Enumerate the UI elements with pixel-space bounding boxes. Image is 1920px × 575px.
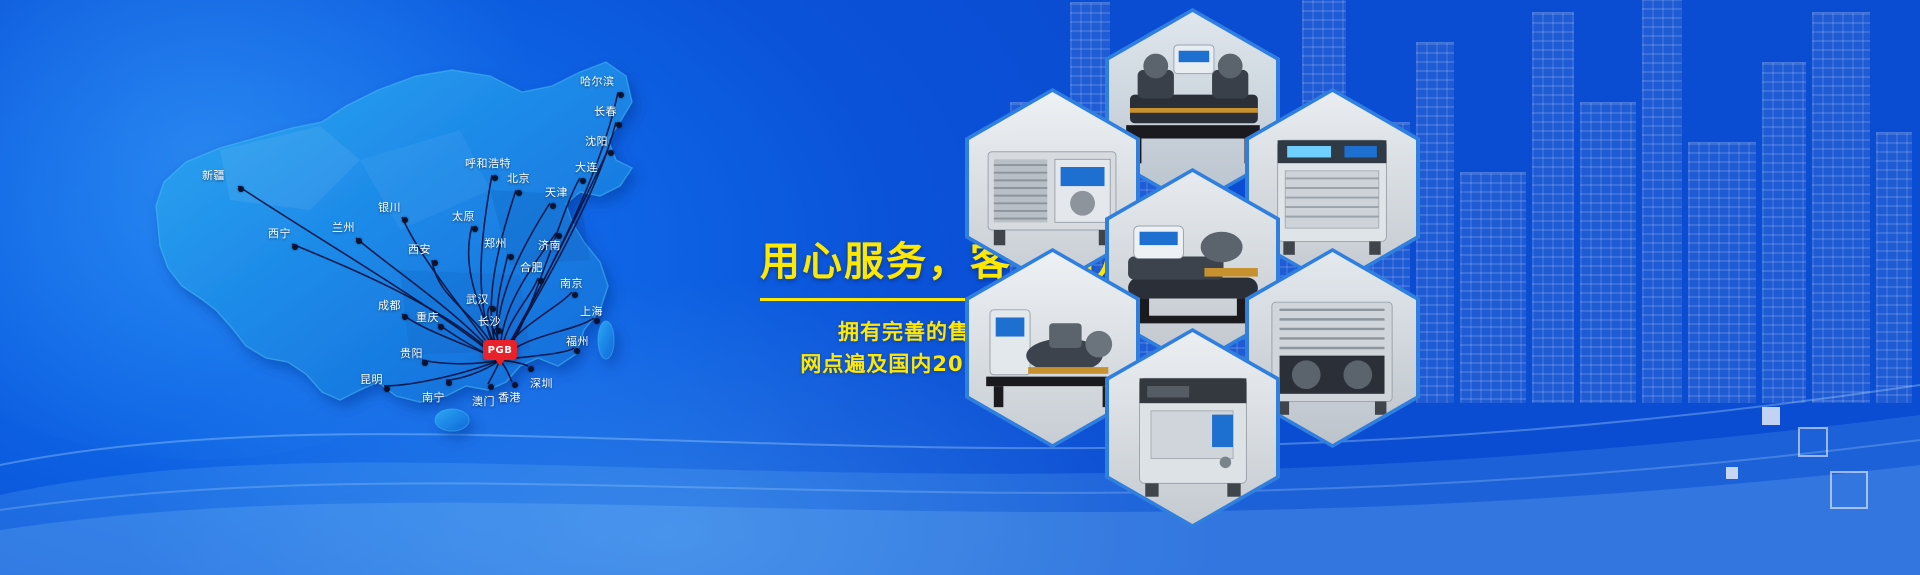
- city-label: 西安: [408, 244, 431, 255]
- city-label: 新疆: [202, 170, 225, 181]
- city-dot[interactable]: [356, 238, 362, 244]
- city-dot[interactable]: [422, 360, 428, 366]
- city-label: 郑州: [484, 238, 507, 249]
- city-label: 哈尔滨: [580, 76, 615, 87]
- city-label: 西宁: [268, 228, 291, 239]
- city-dot[interactable]: [492, 175, 498, 181]
- city-label: 深圳: [530, 378, 553, 389]
- city-dot[interactable]: [508, 254, 514, 260]
- decorative-square-outline-2: [1830, 471, 1868, 509]
- city-dot[interactable]: [580, 178, 586, 184]
- city-dot[interactable]: [238, 186, 244, 192]
- city-label: 沈阳: [585, 136, 608, 147]
- city-label: 天津: [545, 187, 568, 198]
- city-label: 重庆: [416, 312, 439, 323]
- city-dot[interactable]: [618, 92, 624, 98]
- china-map-svg: [60, 10, 780, 570]
- city-label: 北京: [507, 173, 530, 184]
- city-label: 香港: [498, 392, 521, 403]
- city-dot[interactable]: [472, 226, 478, 232]
- city-dot[interactable]: [538, 278, 544, 284]
- city-label: 呼和浩特: [465, 158, 511, 169]
- city-label: 济南: [538, 240, 561, 251]
- city-dot[interactable]: [496, 328, 502, 334]
- city-label: 长沙: [478, 316, 501, 327]
- city-label: 贵阳: [400, 348, 423, 359]
- city-label: 南宁: [422, 392, 445, 403]
- china-map: 哈尔滨长春沈阳大连呼和浩特北京天津银川太原新疆兰州西宁西安郑州济南合肥南京上海武…: [60, 10, 780, 570]
- city-dot[interactable]: [446, 380, 452, 386]
- city-dot[interactable]: [608, 150, 614, 156]
- city-label: 兰州: [332, 222, 355, 233]
- city-dot[interactable]: [572, 292, 578, 298]
- city-dot[interactable]: [550, 203, 556, 209]
- decorative-square-filled-2: [1726, 467, 1738, 479]
- city-dot[interactable]: [574, 348, 580, 354]
- promo-banner: 哈尔滨长春沈阳大连呼和浩特北京天津银川太原新疆兰州西宁西安郑州济南合肥南京上海武…: [0, 0, 1920, 575]
- decorative-square-filled-1: [1762, 407, 1780, 425]
- city-dot[interactable]: [292, 244, 298, 250]
- city-label: 昆明: [360, 374, 383, 385]
- city-label: 银川: [378, 202, 401, 213]
- city-dot[interactable]: [616, 122, 622, 128]
- city-label: 福州: [566, 336, 589, 347]
- city-label: 武汉: [466, 294, 489, 305]
- city-label: 成都: [378, 300, 401, 311]
- decorative-square-outline-1: [1798, 427, 1828, 457]
- product-gallery: [955, 0, 1515, 575]
- city-label: 长春: [594, 106, 617, 117]
- city-dot[interactable]: [402, 314, 408, 320]
- city-dot[interactable]: [528, 366, 534, 372]
- city-dot[interactable]: [516, 190, 522, 196]
- city-dot[interactable]: [490, 306, 496, 312]
- city-label: 南京: [560, 278, 583, 289]
- city-label: 上海: [580, 306, 603, 317]
- city-dot[interactable]: [556, 233, 562, 239]
- city-label: 大连: [575, 162, 598, 173]
- city-dot[interactable]: [594, 318, 600, 324]
- city-label: 太原: [452, 211, 475, 222]
- city-label: 澳门: [472, 396, 495, 407]
- city-dot[interactable]: [512, 382, 518, 388]
- city-label: 合肥: [520, 262, 543, 273]
- city-dot[interactable]: [438, 324, 444, 330]
- city-dot[interactable]: [432, 260, 438, 266]
- hub-marker-pgb[interactable]: PGB: [483, 340, 517, 360]
- city-dot[interactable]: [488, 384, 494, 390]
- city-dot[interactable]: [402, 217, 408, 223]
- city-dot[interactable]: [384, 386, 390, 392]
